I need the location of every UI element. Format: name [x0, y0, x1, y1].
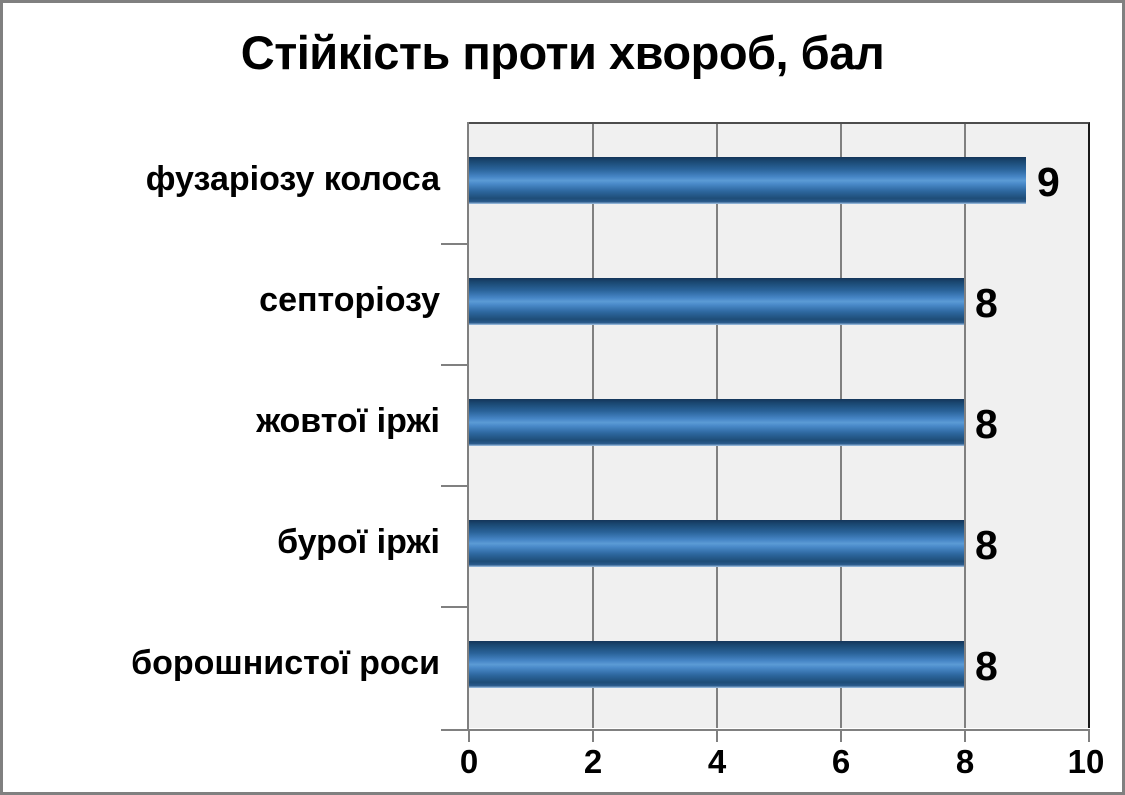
value-axis-label-10: 10 — [1068, 745, 1105, 778]
value-tick-0 — [468, 731, 470, 742]
bar-3[interactable] — [468, 520, 964, 567]
value-axis-label-6: 6 — [832, 745, 850, 778]
gridline-8 — [964, 124, 966, 728]
bar-value-4: 8 — [975, 646, 998, 687]
category-tick-3 — [441, 485, 468, 487]
bar-fill-1 — [468, 278, 964, 325]
bar-fill-3 — [468, 520, 964, 567]
bar-0[interactable] — [468, 157, 1026, 204]
category-tick-4 — [441, 606, 468, 608]
bar-4[interactable] — [468, 641, 964, 688]
category-tick-1 — [441, 243, 468, 245]
category-label-2: жовтої іржі — [3, 404, 440, 438]
value-tick-2 — [592, 731, 594, 742]
bar-value-3: 8 — [975, 525, 998, 566]
bar-value-2: 8 — [975, 404, 998, 445]
bar-fill-4 — [468, 641, 964, 688]
bar-2[interactable] — [468, 399, 964, 446]
category-label-0: фузаріозу колоса — [3, 162, 440, 196]
value-axis-label-8: 8 — [956, 745, 974, 778]
category-axis-line — [467, 122, 469, 731]
category-label-3: бурої іржі — [3, 525, 440, 559]
bar-fill-0 — [468, 157, 1026, 204]
value-tick-4 — [716, 731, 718, 742]
value-axis-label-4: 4 — [708, 745, 726, 778]
bar-value-1: 8 — [975, 283, 998, 324]
bar-fill-2 — [468, 399, 964, 446]
category-axis-labels: фузаріозу колоса септоріозу жовтої іржі … — [3, 122, 440, 728]
value-axis-line — [441, 729, 1090, 731]
bar-value-0: 9 — [1037, 162, 1060, 203]
value-tick-10 — [1088, 731, 1090, 742]
value-axis-label-2: 2 — [584, 745, 602, 778]
value-tick-8 — [964, 731, 966, 742]
plot-area: 9 8 8 8 8 — [468, 122, 1090, 728]
bar-1[interactable] — [468, 278, 964, 325]
chart-title: Стійкість проти хвороб, бал — [3, 25, 1122, 80]
category-label-4: борошнистої роси — [3, 646, 440, 680]
value-tick-6 — [840, 731, 842, 742]
value-axis-label-0: 0 — [460, 745, 478, 778]
category-label-1: септоріозу — [3, 283, 440, 317]
chart-page: Стійкість проти хвороб, бал фузаріозу ко… — [0, 0, 1125, 795]
category-tick-2 — [441, 364, 468, 366]
